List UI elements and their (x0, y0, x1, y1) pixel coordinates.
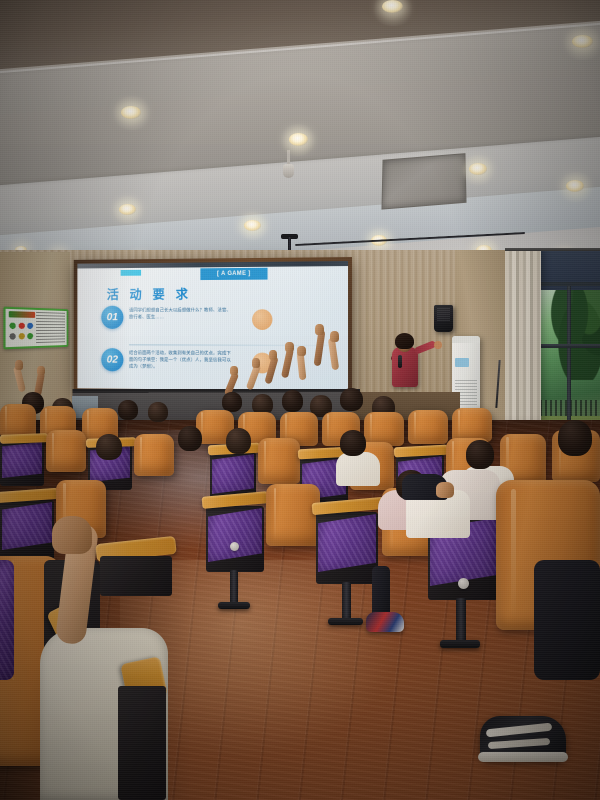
ceiling-downlight (244, 220, 261, 231)
poster-heading (9, 311, 35, 318)
seat-back[interactable] (46, 430, 86, 472)
curtain-rod (505, 248, 600, 251)
ceiling-downlight (469, 163, 487, 175)
slide-game-tag: [ A GAME ] (200, 268, 267, 280)
poster-icons (8, 321, 34, 344)
slide-surface: [ A GAME ] 活 动 要 求 01 请同学们想想自己长大以后想做什么？教… (77, 261, 348, 391)
seat-side-panel (212, 454, 254, 494)
seat-number-badge (230, 542, 239, 551)
projection-screen: [ A GAME ] 活 动 要 求 01 请同学们想想自己长大以后想做什么？教… (74, 257, 352, 395)
slide-item-number-badge: 01 (101, 306, 123, 329)
seat-side-panel (2, 502, 52, 550)
student-head (558, 420, 592, 456)
microphone-icon (398, 355, 402, 368)
student-head (178, 426, 202, 451)
seat-back[interactable] (266, 484, 320, 546)
seat-back[interactable] (364, 412, 404, 446)
slide-item-text: 结合前面两个活动，收集到有关自己的优点，完成下面的句子填空：我是一个（优点）人，… (129, 349, 233, 370)
raised-hand (252, 358, 260, 368)
raised-hand (285, 342, 294, 352)
air-conditioner-top (452, 336, 480, 343)
student-head (282, 390, 303, 412)
raised-hand (315, 324, 324, 335)
ceiling-downlight (119, 204, 136, 215)
smoke-detector-icon (283, 164, 294, 178)
seat-back[interactable] (452, 408, 492, 442)
student-head (148, 402, 168, 422)
raised-hand (269, 350, 277, 360)
seat-foot (218, 602, 250, 609)
poster-text-columns (36, 312, 65, 344)
seat-foot (440, 640, 480, 648)
slide-title: 活 动 要 求 (107, 284, 192, 303)
ceiling-downlight (289, 133, 308, 146)
seat-side-panel (2, 442, 42, 478)
student-head (118, 400, 138, 420)
raised-hand (230, 366, 238, 375)
air-conditioner-display (455, 358, 469, 367)
seat-side-panel (208, 508, 262, 562)
seat-leg (342, 582, 351, 620)
slide-accent-bar (121, 270, 141, 276)
waste-sorting-poster (3, 307, 68, 350)
student-legs-foreground (534, 560, 600, 680)
student-torso (336, 452, 380, 486)
student-head (340, 388, 363, 411)
seat-number-badge (458, 578, 469, 589)
seat-leg (230, 570, 238, 604)
shoe-sole (478, 752, 568, 762)
student-head (96, 434, 122, 460)
seat-side-panel (318, 514, 376, 572)
sneaker (366, 612, 404, 632)
hvac-vent (381, 153, 466, 209)
slide-item-number-badge: 02 (101, 348, 123, 371)
student-head (466, 440, 494, 469)
student-head (226, 428, 251, 454)
wall-speaker (434, 305, 453, 332)
seat-back[interactable] (134, 434, 174, 476)
student-head (340, 430, 366, 456)
seat-side-panel-foreground (0, 560, 14, 680)
slide-item-text: 请同学们想想自己长大以后想做什么？教师、法官、旅行者、医生…… (129, 306, 233, 320)
seat-back[interactable] (258, 438, 300, 484)
ceiling-downlight (382, 0, 403, 13)
presenter-hand (434, 341, 442, 349)
presenter-hair (395, 333, 414, 349)
raised-hand (330, 331, 339, 342)
student-head (222, 392, 242, 412)
seat-armrest[interactable] (0, 433, 48, 444)
seat-foot (328, 618, 363, 625)
slide-item-1: 01 请同学们想想自己长大以后想做什么？教师、法官、旅行者、医生…… (101, 305, 335, 306)
seat-leg (456, 598, 466, 642)
raised-hand (15, 360, 23, 370)
student-hand (436, 482, 454, 498)
raised-hand (37, 366, 45, 375)
ceiling-downlight (121, 106, 141, 119)
presenter-body (392, 347, 418, 387)
classroom-photo-scene: [ A GAME ] 活 动 要 求 01 请同学们想想自己长大以后想做什么？教… (0, 0, 600, 800)
slide-orange-circle (252, 309, 272, 330)
ceiling-downlight (572, 35, 593, 48)
raised-hand-foreground (52, 516, 92, 554)
seat-back[interactable] (408, 410, 448, 444)
seat-shell-lower (118, 686, 166, 800)
raised-hand (297, 346, 306, 356)
seat-shell-left-fg (100, 556, 172, 596)
ceiling-downlight (566, 180, 584, 192)
